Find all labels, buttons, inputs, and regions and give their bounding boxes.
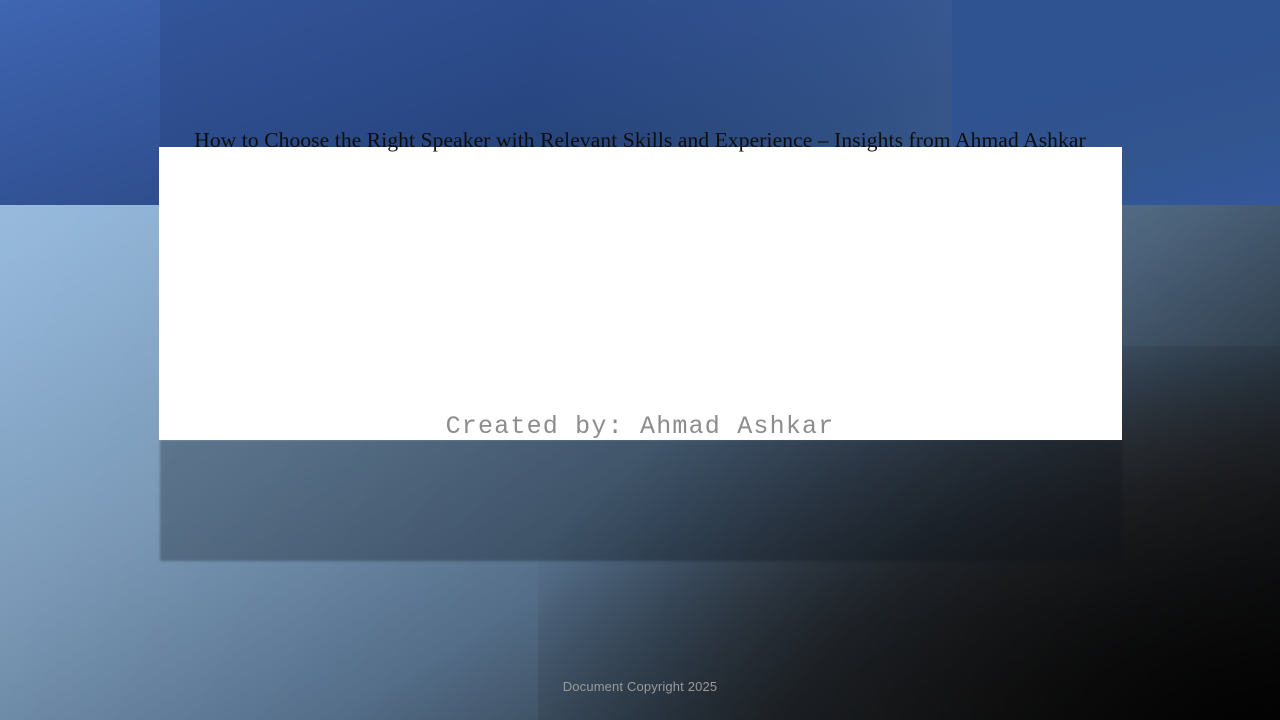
slide-canvas: How to Choose the Right Speaker with Rel… xyxy=(0,0,1280,720)
title-card-inner xyxy=(159,147,1122,440)
slide-title: How to Choose the Right Speaker with Rel… xyxy=(0,126,1280,155)
title-card xyxy=(159,147,1122,440)
footer-copyright: Document Copyright 2025 xyxy=(0,679,1280,695)
slide-subtitle-author: Created by: Ahmad Ashkar xyxy=(0,412,1280,442)
band-inner-panel xyxy=(160,0,952,147)
card-shadow-panel xyxy=(160,440,1122,561)
